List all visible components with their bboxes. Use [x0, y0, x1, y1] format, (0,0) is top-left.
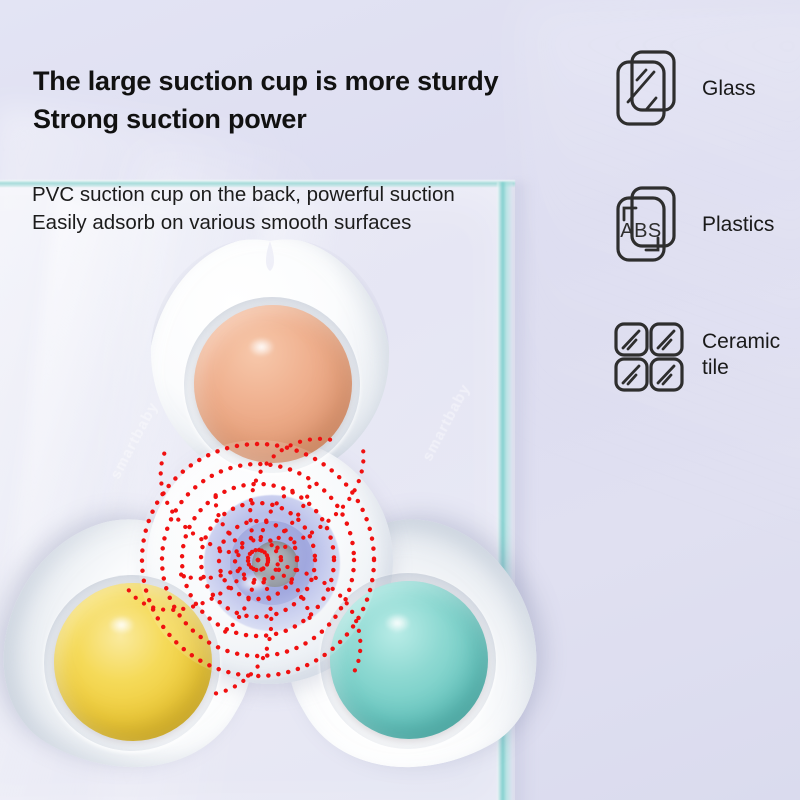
glass-panes-icon — [610, 46, 688, 132]
material-item-glass: Glass — [610, 46, 756, 132]
material-item-ceramic-tile: Ceramic tile — [610, 312, 780, 398]
material-label-ceramic-tile: Ceramic tile — [702, 329, 780, 381]
tile-grid-icon — [610, 312, 688, 398]
spinner-ball-orange — [194, 305, 352, 463]
suction-cup-spinner-toy — [0, 243, 550, 763]
material-label-glass: Glass — [702, 76, 756, 102]
abs-sheets-icon: ABS — [610, 182, 688, 268]
page-headline: The large suction cup is more sturdy Str… — [33, 62, 498, 138]
material-label-plastics: Plastics — [702, 212, 774, 238]
spinner-ball-yellow — [54, 583, 212, 741]
abs-badge-text: ABS — [620, 220, 662, 242]
page-subtitle: PVC suction cup on the back, powerful su… — [32, 181, 455, 237]
suction-cup-gloss — [236, 573, 270, 593]
promo-image: smartbaby smartbaby smartbaby — [0, 0, 800, 800]
material-item-plastics: ABS Plastics — [610, 182, 774, 268]
spinner-ball-teal — [330, 581, 488, 739]
